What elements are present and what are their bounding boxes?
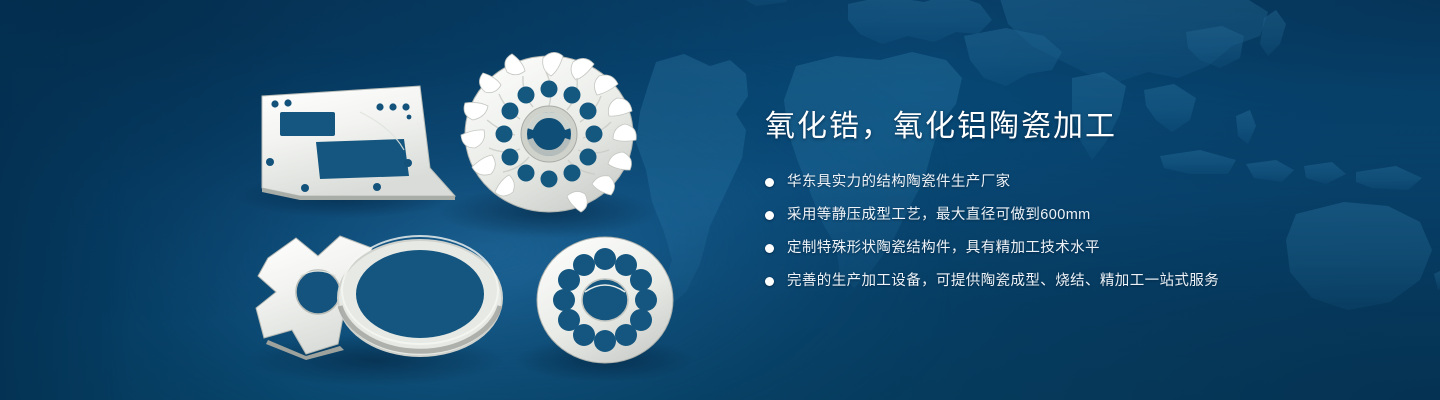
list-item: 采用等静压成型工艺，最大直径可做到600mm <box>765 205 1365 225</box>
banner-text-block: 氧化锆，氧化铝陶瓷加工 华东具实力的结构陶瓷件生产厂家 采用等静压成型工艺，最大… <box>765 108 1365 291</box>
banner-headline: 氧化锆，氧化铝陶瓷加工 <box>765 108 1365 146</box>
feature-text: 定制特殊形状陶瓷结构件，具有精加工技术水平 <box>787 238 1100 258</box>
feature-text: 华东具实力的结构陶瓷件生产厂家 <box>787 172 1011 192</box>
bullet-dot-icon <box>765 244 774 253</box>
feature-text: 采用等静压成型工艺，最大直径可做到600mm <box>787 205 1091 225</box>
list-item: 定制特殊形状陶瓷结构件，具有精加工技术水平 <box>765 238 1365 258</box>
ceramic-ring-part <box>338 236 502 356</box>
bullet-dot-icon <box>765 211 774 220</box>
ceramic-plate-part <box>262 86 455 200</box>
ceramic-processing-banner: 氧化锆，氧化铝陶瓷加工 华东具实力的结构陶瓷件生产厂家 采用等静压成型工艺，最大… <box>0 0 1440 400</box>
feature-text: 完善的生产加工设备，可提供陶瓷成型、烧结、精加工一站式服务 <box>787 271 1219 291</box>
bullet-dot-icon <box>765 178 774 187</box>
list-item: 华东具实力的结构陶瓷件生产厂家 <box>765 172 1365 192</box>
ceramic-impeller-part <box>461 52 636 212</box>
list-item: 完善的生产加工设备，可提供陶瓷成型、烧结、精加工一站式服务 <box>765 271 1365 291</box>
ceramic-products-image <box>0 0 760 400</box>
banner-feature-list: 华东具实力的结构陶瓷件生产厂家 采用等静压成型工艺，最大直径可做到600mm 定… <box>765 172 1365 291</box>
bullet-dot-icon <box>765 277 774 286</box>
